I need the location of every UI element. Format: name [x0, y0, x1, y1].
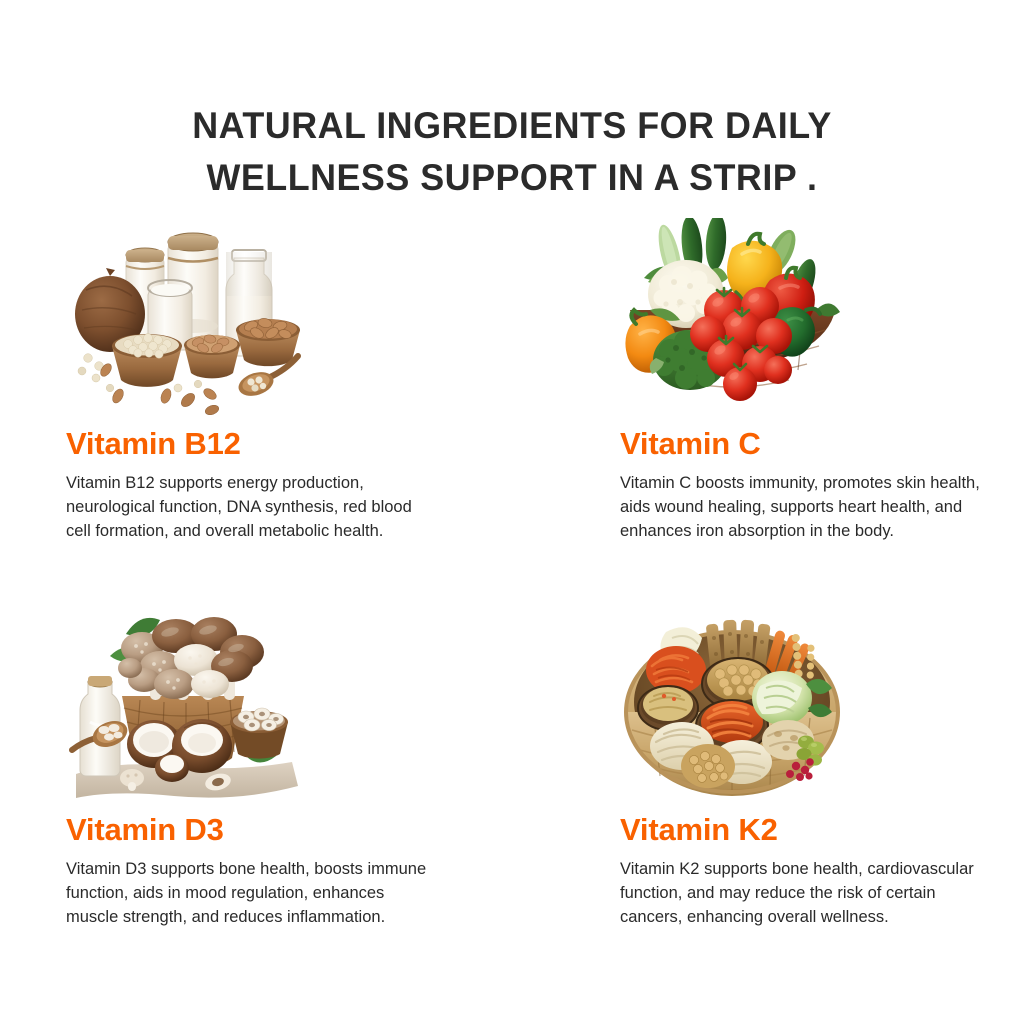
vitamin-card-body: Vitamin K2 supports bone health, cardiov…	[620, 857, 986, 929]
vitamin-card-title: Vitamin C	[620, 426, 1024, 462]
fermented-foods-basket-photo	[620, 604, 845, 804]
mushroom-basket-photo	[66, 604, 306, 804]
page-title-line-1: NATURAL INGREDIENTS FOR DAILY	[15, 100, 1008, 152]
vitamin-card-body: Vitamin C boosts immunity, promotes skin…	[620, 471, 986, 543]
vitamin-card-title: Vitamin K2	[620, 812, 1024, 848]
dairy-nuts-photo	[66, 218, 306, 418]
vitamin-card-grid: Vitamin B12 Vitamin B12 supports energy …	[0, 218, 1024, 1008]
vitamin-card-k2: Vitamin K2 Vitamin K2 supports bone heal…	[620, 604, 1024, 929]
page-title-line-2: WELLNESS SUPPORT IN A STRIP .	[15, 152, 1008, 204]
vitamin-card-b12: Vitamin B12 Vitamin B12 supports energy …	[66, 218, 486, 543]
vitamin-card-body: Vitamin D3 supports bone health, boosts …	[66, 857, 438, 929]
vitamin-card-c: Vitamin C Vitamin C boosts immunity, pro…	[620, 218, 1024, 543]
infographic-page: NATURAL INGREDIENTS FOR DAILY WELLNESS S…	[0, 0, 1024, 1024]
vitamin-card-title: Vitamin B12	[66, 426, 486, 462]
vitamin-card-title: Vitamin D3	[66, 812, 486, 848]
page-title: NATURAL INGREDIENTS FOR DAILY WELLNESS S…	[0, 100, 1024, 204]
vitamin-card-body: Vitamin B12 supports energy production, …	[66, 471, 438, 543]
vegetable-basket-photo	[620, 218, 845, 418]
vitamin-card-d3: Vitamin D3 Vitamin D3 supports bone heal…	[66, 604, 486, 929]
